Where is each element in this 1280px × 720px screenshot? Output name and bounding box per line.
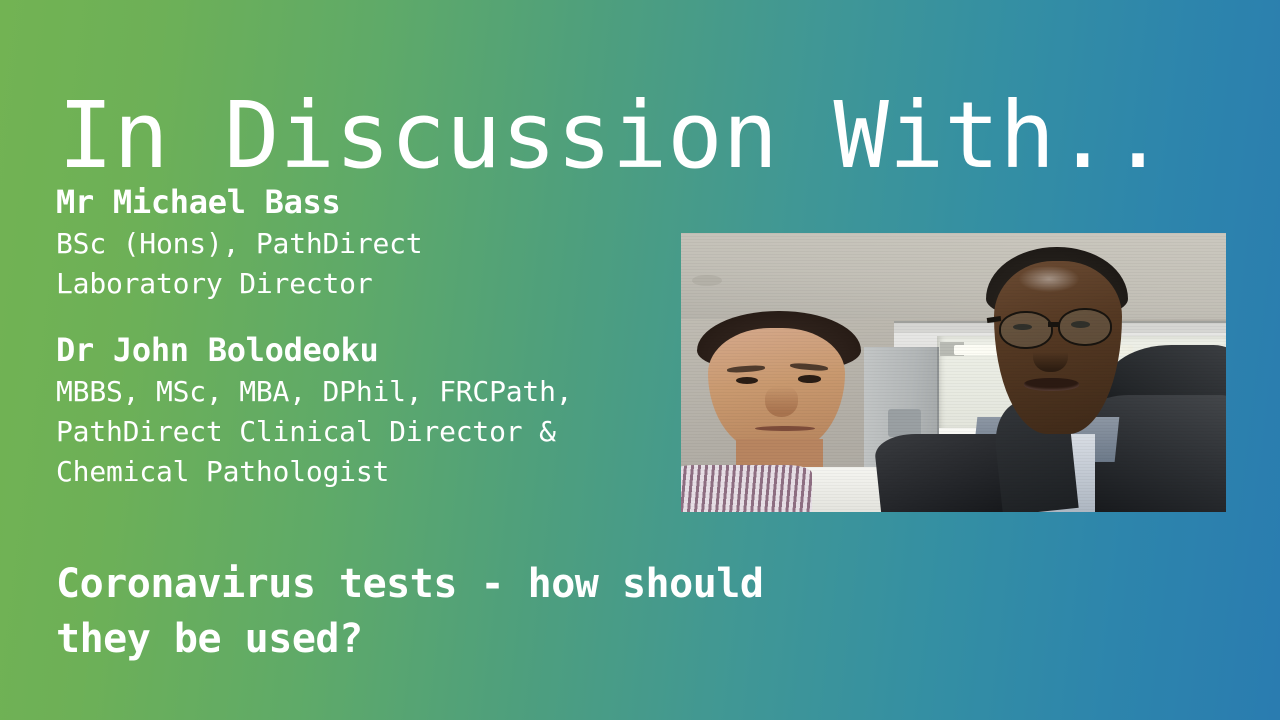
cabinet-handle [888, 409, 921, 437]
glasses-icon [1058, 308, 1112, 345]
ceiling-fixture [692, 275, 722, 286]
speaker-credentials: MBBS, MSc, MBA, DPhil, FRCPath, PathDire… [56, 372, 676, 491]
video-thumbnail [681, 233, 1226, 512]
speaker-entry: Dr John Bolodeoku MBBS, MSc, MBA, DPhil,… [56, 330, 676, 492]
glasses-bridge [1048, 322, 1060, 326]
page-title: In Discussion With.. [58, 88, 1166, 185]
participant-left-shirt [681, 465, 812, 512]
presentation-slide: In Discussion With.. Mr Michael Bass BSc… [0, 0, 1280, 720]
glasses-icon [999, 311, 1053, 348]
speaker-list: Mr Michael Bass BSc (Hons), PathDirect L… [56, 182, 676, 491]
discussion-question: Coronavirus tests - how should they be u… [56, 557, 956, 667]
speaker-name: Dr John Bolodeoku [56, 330, 676, 370]
participant-right-highlight [1019, 266, 1079, 291]
speaker-credentials: BSc (Hons), PathDirect Laboratory Direct… [56, 224, 676, 304]
video-scene [681, 233, 1226, 512]
participant-left-mouth [755, 426, 815, 432]
speaker-entry: Mr Michael Bass BSc (Hons), PathDirect L… [56, 182, 676, 304]
lab-ceiling [681, 233, 1226, 319]
participant-left-eye [736, 377, 759, 384]
participant-left-eye [798, 375, 821, 382]
participant-right-mouth [1024, 378, 1079, 391]
slide-content: In Discussion With.. Mr Michael Bass BSc… [0, 0, 1280, 720]
speaker-name: Mr Michael Bass [56, 182, 676, 222]
